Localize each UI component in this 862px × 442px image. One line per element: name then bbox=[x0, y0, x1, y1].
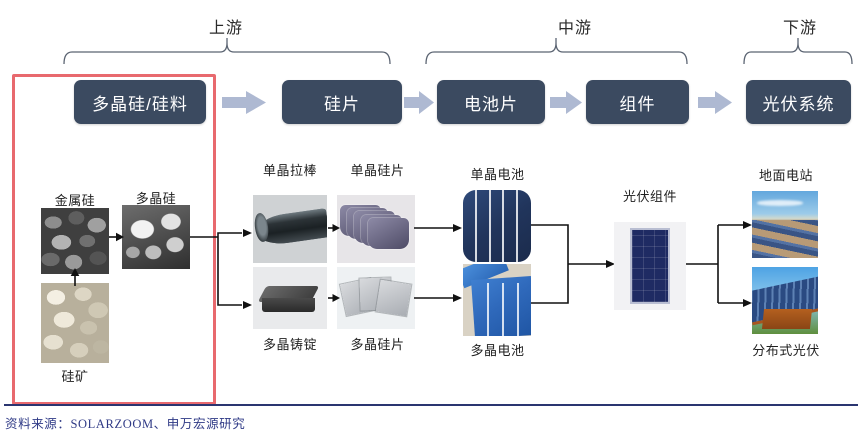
caption-mono-wafer: 单晶硅片 bbox=[330, 160, 425, 179]
connector-metal-silicon-to-polysilicon bbox=[109, 231, 124, 243]
photo-metal-silicon bbox=[41, 208, 109, 274]
flow-arrow-polysilicon-to-wafer bbox=[222, 91, 266, 114]
caption-ground-station: 地面电站 bbox=[745, 165, 827, 184]
bracket-downstream bbox=[742, 38, 854, 64]
photo-poly-ingot bbox=[253, 267, 327, 329]
flow-arrow-module-to-system bbox=[698, 91, 732, 114]
connector-module-split bbox=[686, 218, 752, 310]
caption-metal-silicon: 金属硅 bbox=[41, 190, 109, 209]
caption-poly-ingot: 多晶铸锭 bbox=[240, 334, 340, 353]
photo-mono-ingot bbox=[253, 195, 327, 263]
caption-poly-cell: 多晶电池 bbox=[455, 340, 540, 359]
caption-pv-module: 光伏组件 bbox=[607, 186, 693, 205]
connector-polysilicon-split bbox=[190, 225, 252, 310]
connector-poly-wafer-to-cell bbox=[414, 292, 462, 304]
photo-mono-cell bbox=[463, 190, 531, 262]
diagram-canvas: 上游 中游 下游 多晶硅/硅料 硅片 电池片 组件 光伏系统 bbox=[0, 0, 862, 442]
caption-mono-ingot: 单晶拉棒 bbox=[240, 160, 340, 179]
photo-distributed-pv bbox=[752, 267, 818, 334]
caption-distributed-pv: 分布式光伏 bbox=[738, 340, 834, 359]
stage-label-upstream: 上游 bbox=[196, 14, 256, 38]
process-box-pv-system[interactable]: 光伏系统 bbox=[746, 80, 851, 124]
bracket-upstream bbox=[62, 38, 392, 64]
stage-label-midstream: 中游 bbox=[545, 14, 605, 38]
process-box-wafer[interactable]: 硅片 bbox=[282, 80, 402, 124]
photo-pv-module bbox=[614, 222, 686, 310]
photo-poly-wafer bbox=[337, 267, 415, 329]
photo-polysilicon-chunk bbox=[122, 205, 190, 269]
footer-divider bbox=[4, 404, 858, 406]
caption-mono-cell: 单晶电池 bbox=[455, 164, 540, 183]
photo-poly-cell bbox=[463, 264, 531, 336]
photo-mono-wafer bbox=[337, 195, 415, 263]
footer-source-text: 资料来源：SOLARZOOM、申万宏源研究 bbox=[5, 413, 245, 432]
caption-poly-wafer: 多晶硅片 bbox=[330, 334, 425, 353]
process-box-cell[interactable]: 电池片 bbox=[437, 80, 545, 124]
process-box-module[interactable]: 组件 bbox=[586, 80, 689, 124]
bracket-midstream bbox=[424, 38, 689, 64]
process-box-polysilicon[interactable]: 多晶硅/硅料 bbox=[74, 80, 206, 124]
stage-label-downstream: 下游 bbox=[770, 14, 830, 38]
connector-mono-wafer-to-cell bbox=[414, 222, 462, 234]
caption-polysilicon-chunk: 多晶硅 bbox=[122, 188, 190, 207]
flow-arrow-cell-to-module bbox=[550, 91, 582, 114]
connector-poly-ingot-to-wafer bbox=[328, 292, 340, 304]
caption-silica-ore: 硅矿 bbox=[41, 366, 109, 385]
flow-arrow-wafer-to-cell bbox=[404, 91, 434, 114]
photo-silica-ore bbox=[41, 283, 109, 363]
photo-ground-station bbox=[752, 191, 818, 258]
connector-mono-ingot-to-wafer bbox=[328, 222, 340, 234]
connector-cells-to-module bbox=[531, 218, 615, 310]
connector-ore-to-metal-silicon bbox=[68, 268, 82, 286]
